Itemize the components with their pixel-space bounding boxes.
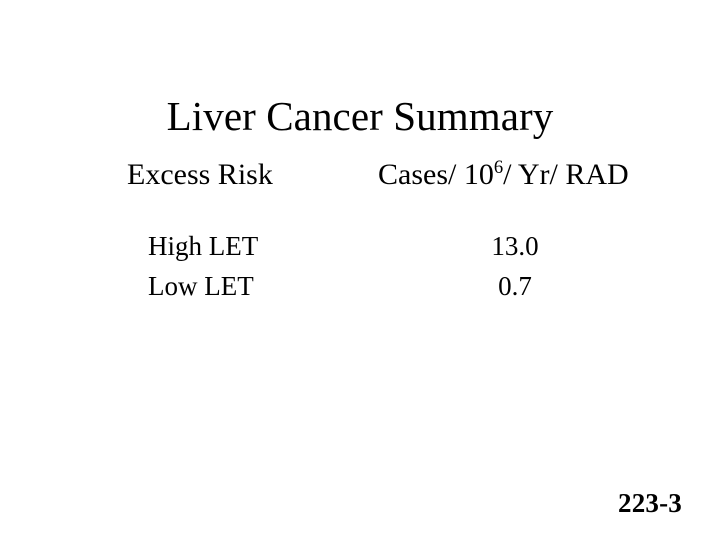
slide-canvas: Liver Cancer Summary Excess Risk Cases/ … bbox=[0, 0, 720, 540]
cases-header-superscript: 6 bbox=[494, 157, 503, 178]
cases-header-prefix: Cases/ 10 bbox=[378, 158, 494, 191]
table-body: High LET 13.0 Low LET 0.7 bbox=[0, 230, 720, 310]
column-header-excess-risk: Excess Risk bbox=[127, 158, 273, 192]
row-label-high-let: High LET bbox=[148, 230, 258, 262]
row-value-low-let: 0.7 bbox=[440, 270, 590, 302]
column-header-cases-per-million-per-year-per-rad: Cases/ 106/ Yr/ RAD bbox=[378, 158, 629, 192]
table-row: Low LET 0.7 bbox=[0, 270, 720, 310]
cases-header-suffix: / Yr/ RAD bbox=[503, 158, 629, 191]
table-header-row: Excess Risk Cases/ 106/ Yr/ RAD bbox=[0, 158, 720, 200]
page-title: Liver Cancer Summary bbox=[0, 95, 720, 138]
risk-summary-table: Excess Risk Cases/ 106/ Yr/ RAD High LET… bbox=[0, 158, 720, 200]
slide-number: 223-3 bbox=[618, 488, 682, 518]
row-label-low-let: Low LET bbox=[148, 270, 254, 302]
table-row: High LET 13.0 bbox=[0, 230, 720, 270]
row-value-high-let: 13.0 bbox=[440, 230, 590, 262]
